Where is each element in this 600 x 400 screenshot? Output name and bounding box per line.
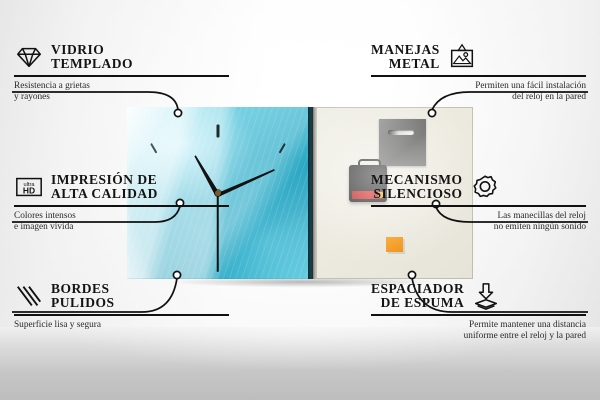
- feature-subtitle-line2: e imagen vívida: [14, 222, 229, 234]
- feature-subtitle-line2: y rayones: [14, 92, 229, 104]
- feature-subtitle-line1: Permite mantener una distancia: [371, 320, 586, 332]
- gear-icon: [470, 172, 500, 202]
- arrow-down-layers-icon: [471, 281, 501, 311]
- feature-subtitle-line2: no emiten ningún sonido: [371, 222, 586, 234]
- feature-title-line2: DE ESPUMA: [371, 296, 464, 311]
- feature-impresion-alta-calidad: ultra HD IMPRESIÓN DE ALTA CALIDAD Color…: [14, 172, 229, 234]
- feature-manejas-metal: MANEJAS METAL Permiten una fácil instala…: [371, 42, 586, 104]
- ultra-hd-icon: ultra HD: [14, 172, 44, 202]
- framed-picture-hanging-icon: [447, 42, 477, 72]
- feature-subtitle-line2: del reloj en la pared: [371, 92, 586, 104]
- connector-dot-1: [174, 109, 181, 116]
- feature-title-line1: BORDES: [51, 282, 115, 297]
- feature-subtitle-line1: Permiten una fácil instalación: [371, 81, 586, 93]
- feature-vidrio-templado: VIDRIO TEMPLADO Resistencia a grietas y …: [14, 42, 229, 104]
- feature-rule: [14, 75, 229, 77]
- feature-subtitle-line1: Las manecillas del reloj: [371, 211, 586, 223]
- connector-dot-4: [428, 109, 435, 116]
- feature-rule: [371, 75, 586, 77]
- feature-rule: [371, 314, 586, 316]
- feature-rule: [371, 205, 586, 207]
- feature-title-line1: MANEJAS: [371, 43, 440, 58]
- feature-title-line1: VIDRIO: [51, 43, 133, 58]
- feature-title-line1: MECANISMO: [371, 173, 463, 188]
- feature-title-line1: ESPACIADOR: [371, 282, 464, 297]
- connector-dot-6: [408, 271, 415, 278]
- feature-subtitle-line1: Superficie lisa y segura: [14, 320, 229, 332]
- feature-mecanismo-silencioso: MECANISMO SILENCIOSO Las manecillas del …: [371, 172, 586, 234]
- connector-dot-3: [173, 271, 180, 278]
- feature-espaciador-de-espuma: ESPACIADOR DE ESPUMA Permite mantener un…: [371, 281, 586, 343]
- feature-rule: [14, 205, 229, 207]
- feature-subtitle-line1: Colores intensos: [14, 211, 229, 223]
- product-infographic: VIDRIO TEMPLADO Resistencia a grietas y …: [0, 0, 600, 400]
- feature-title-line2: SILENCIOSO: [371, 187, 463, 202]
- diamond-icon: [14, 42, 44, 72]
- polished-edges-icon: [14, 281, 44, 311]
- feature-title-line2: TEMPLADO: [51, 57, 133, 72]
- feature-title-line2: PULIDOS: [51, 296, 115, 311]
- feature-bordes-pulidos: BORDES PULIDOS Superficie lisa y segura: [14, 281, 229, 331]
- feature-title-line2: METAL: [371, 57, 440, 72]
- feature-title-line2: ALTA CALIDAD: [51, 187, 158, 202]
- feature-subtitle-line2: uniforme entre el reloj y la pared: [371, 331, 586, 343]
- feature-subtitle-line1: Resistencia a grietas: [14, 81, 229, 93]
- svg-text:HD: HD: [23, 186, 35, 196]
- feature-rule: [14, 314, 229, 316]
- feature-title-line1: IMPRESIÓN DE: [51, 173, 158, 188]
